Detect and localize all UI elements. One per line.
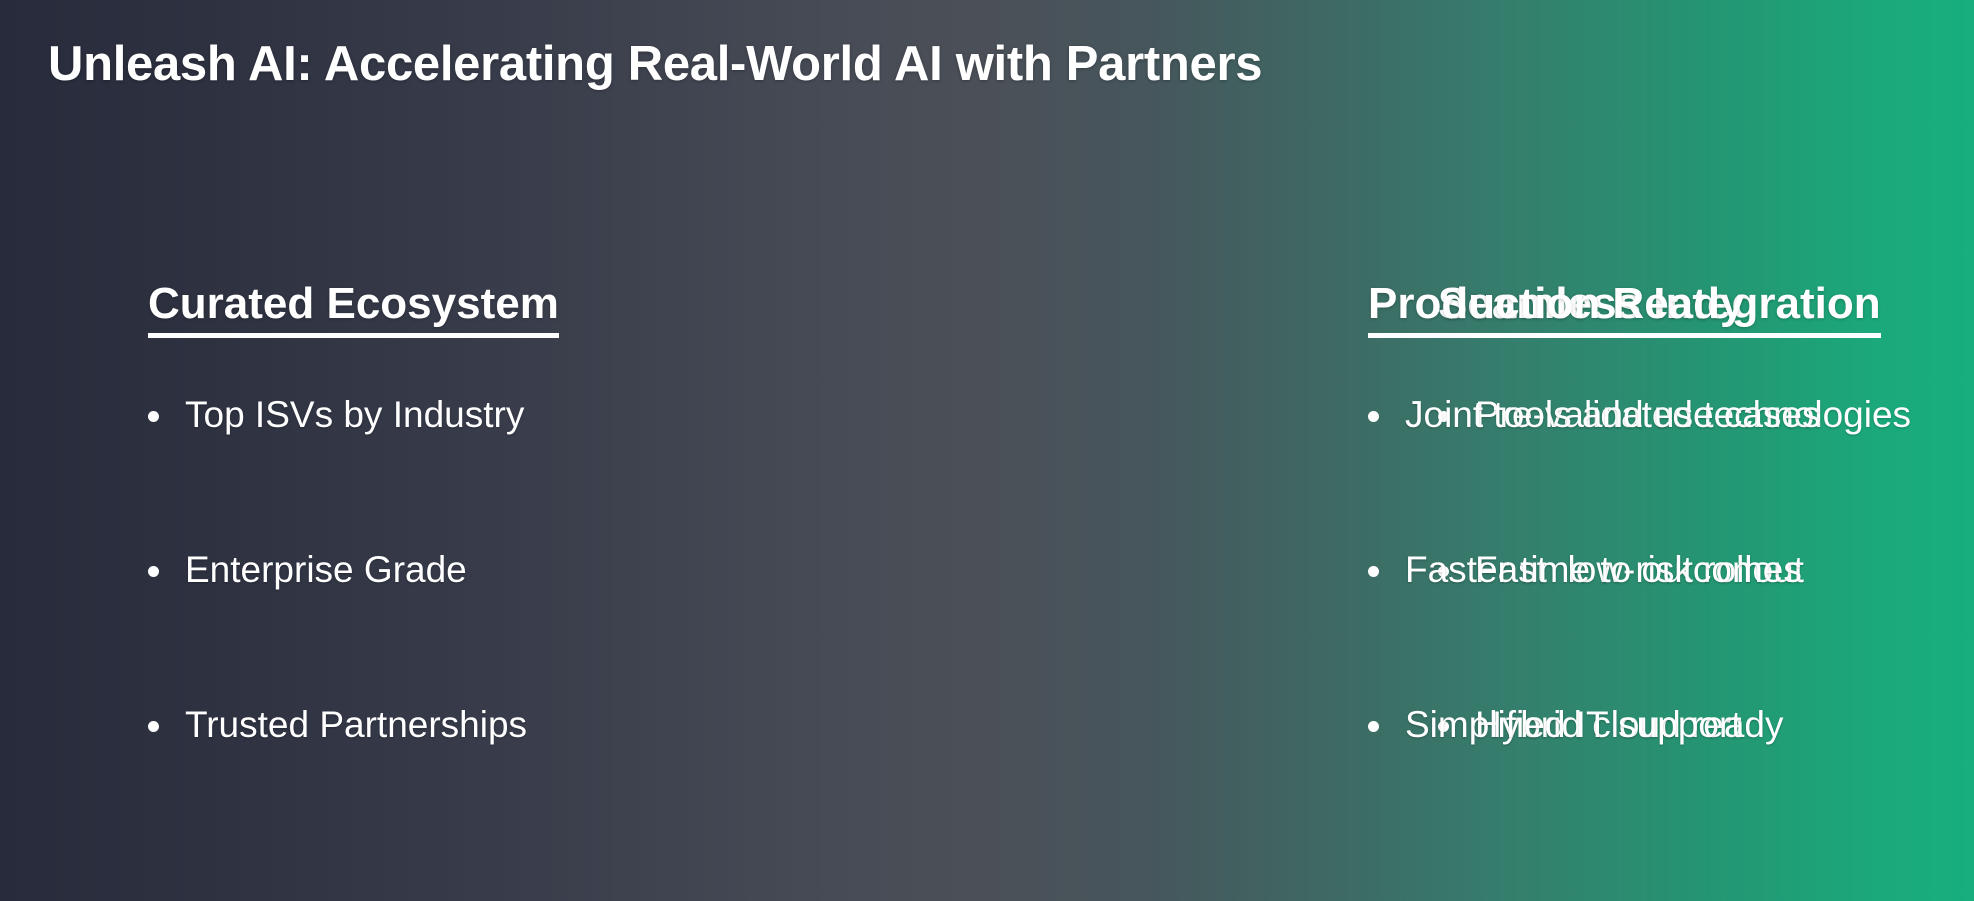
list-item-label: Trusted Partnerships — [185, 704, 527, 747]
list-item-label: Simplified IT support — [1405, 704, 1742, 747]
list-item-label: Top ISVs by Industry — [185, 394, 524, 437]
bullet-dot-icon — [148, 566, 159, 577]
list-item: Top ISVs by Industry — [148, 394, 724, 549]
list-item-label: Joint tools and use cases — [1405, 394, 1820, 437]
list-item: Joint tools and use cases — [1368, 394, 1974, 549]
column-curated-ecosystem: Curated Ecosystem Top ISVs by Industry E… — [74, 280, 724, 859]
presentation-slide: Unleash AI: Accelerating Real-World AI w… — [0, 0, 1974, 901]
column-seamless-integration: Seamless Integration Pre-validated techn… — [718, 280, 1438, 859]
column-heading-production-ready: Production Ready — [1368, 280, 1745, 338]
list-item: Simplified IT support — [1368, 704, 1974, 859]
bullet-list-production-ready: Joint tools and use cases Faster time to… — [1368, 394, 1974, 859]
list-item-label: Faster time to outcomes — [1405, 549, 1802, 592]
bullet-dot-icon — [1368, 721, 1379, 732]
bullet-dot-icon — [1368, 566, 1379, 577]
bullet-dot-icon — [148, 721, 159, 732]
bullet-list-curated-ecosystem: Top ISVs by Industry Enterprise Grade Tr… — [148, 394, 724, 859]
column-heading-curated-ecosystem: Curated Ecosystem — [148, 280, 559, 338]
list-item: Faster time to outcomes — [1368, 549, 1974, 704]
page-title: Unleash AI: Accelerating Real-World AI w… — [48, 36, 1548, 92]
columns-container: Curated Ecosystem Top ISVs by Industry E… — [0, 280, 1974, 880]
list-item-label: Enterprise Grade — [185, 549, 467, 592]
bullet-dot-icon — [1368, 411, 1379, 422]
column-production-ready: Production Ready Joint tools and use cas… — [1368, 280, 1974, 859]
list-item: Enterprise Grade — [148, 549, 724, 704]
bullet-dot-icon — [148, 411, 159, 422]
list-item: Trusted Partnerships — [148, 704, 724, 859]
